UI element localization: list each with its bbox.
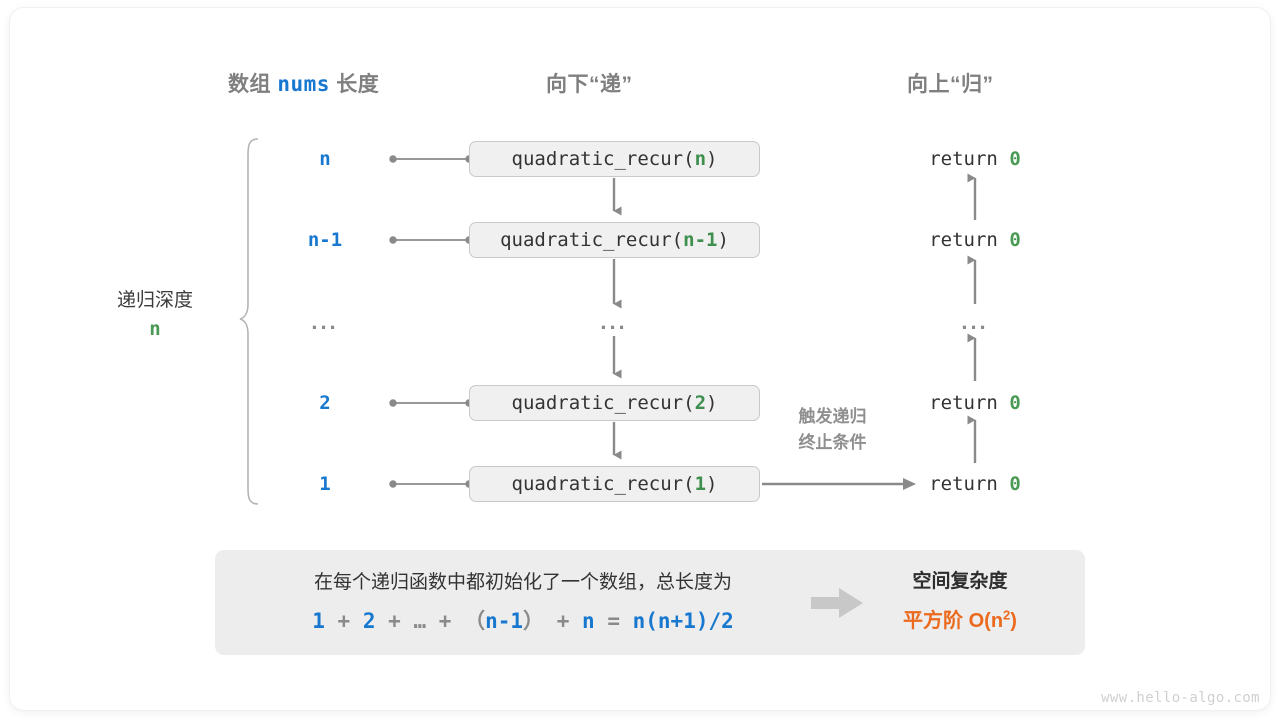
- summary-panel: 在每个递归函数中都初始化了一个数组，总长度为 1 + 2 + … + （n-1）…: [215, 550, 1085, 655]
- header-left-suffix: 长度: [336, 73, 379, 96]
- complexity-summary: 空间复杂度 平方阶 O(n2): [855, 566, 1065, 633]
- call-box-row1[interactable]: quadratic_recur(n): [469, 141, 760, 177]
- call-box-row5[interactable]: quadratic_recur(1): [469, 466, 760, 502]
- call-box-row2-prefix: quadratic_recur(: [500, 229, 683, 251]
- recursion-depth-label: 递归深度 n: [90, 286, 220, 345]
- watermark: www.hello-algo.com: [1101, 690, 1260, 706]
- formula-term-b: 2: [363, 609, 376, 633]
- connector-dot-left-row5: [390, 481, 396, 487]
- formula-equals: =: [607, 609, 620, 633]
- return-row1-label: return: [929, 148, 998, 170]
- depth-brace: [240, 139, 258, 504]
- header-left-prefix: 数组: [228, 73, 271, 96]
- return-row5-label: return: [929, 473, 998, 495]
- formula-ellipsis: …: [413, 609, 426, 633]
- call-box-row3-ellipsis: ...: [564, 311, 664, 333]
- return-row4-value: 0: [1009, 392, 1020, 414]
- formula-op2: +: [388, 609, 401, 633]
- return-row2: return 0: [890, 229, 1060, 251]
- call-box-row2[interactable]: quadratic_recur(n-1): [469, 222, 760, 258]
- complexity-value-tail: ): [1010, 610, 1017, 632]
- return-row3-ellipsis: ...: [925, 311, 1025, 333]
- return-row1: return 0: [890, 148, 1060, 170]
- complexity-value-prefix: 平方阶: [903, 610, 963, 632]
- complexity-title: 空间复杂度: [855, 566, 1065, 593]
- diagram-stage: 数组 nums 长度 向下“递” 向上“归” 递归深度 n n n-1 ... …: [10, 8, 1270, 710]
- termination-note: 触发递归 终止条件: [765, 404, 900, 457]
- call-box-row5-arg: 1: [695, 473, 706, 495]
- call-box-row4-prefix: quadratic_recur(: [512, 392, 695, 414]
- formula-result: n(n+1)/2: [633, 609, 734, 633]
- depth-value-row4: 2: [275, 392, 375, 414]
- recursion-depth-title: 递归深度: [90, 286, 220, 315]
- call-box-row4-suffix: ): [706, 392, 717, 414]
- termination-note-line1: 触发递归: [765, 404, 900, 430]
- call-box-row1-arg: n: [695, 148, 706, 170]
- summary-formula: 1 + 2 + … + （n-1） + n = n(n+1)/2: [243, 605, 803, 635]
- formula-paren-close: ）: [523, 609, 544, 633]
- return-row1-value: 0: [1009, 148, 1020, 170]
- call-box-row1-prefix: quadratic_recur(: [512, 148, 695, 170]
- header-left-column: 数组 nums 长度: [228, 68, 379, 98]
- header-left-code: nums: [277, 72, 330, 96]
- return-row2-value: 0: [1009, 229, 1020, 251]
- call-box-row5-suffix: ): [706, 473, 717, 495]
- depth-value-row3-ellipsis: ...: [275, 311, 375, 333]
- call-box-row5-prefix: quadratic_recur(: [512, 473, 695, 495]
- return-row4-label: return: [929, 392, 998, 414]
- formula-paren-open: （: [464, 609, 485, 633]
- return-row5-value: 0: [1009, 473, 1020, 495]
- connector-dot-left-row4: [390, 400, 396, 406]
- formula-op1: +: [338, 609, 351, 633]
- header-right-column: 向上“归”: [907, 68, 994, 98]
- formula-op4: +: [557, 609, 570, 633]
- depth-value-row1: n: [275, 148, 375, 170]
- summary-text: 在每个递归函数中都初始化了一个数组，总长度为: [243, 567, 803, 594]
- termination-note-line2: 终止条件: [765, 430, 900, 456]
- formula-term-d: n: [582, 609, 595, 633]
- connector-dot-left-row2: [390, 237, 396, 243]
- depth-value-row5: 1: [275, 473, 375, 495]
- return-row4: return 0: [890, 392, 1060, 414]
- diagram-card: 数组 nums 长度 向下“递” 向上“归” 递归深度 n n n-1 ... …: [10, 8, 1270, 710]
- complexity-value-big: O(n: [969, 610, 1003, 632]
- call-box-row4[interactable]: quadratic_recur(2): [469, 385, 760, 421]
- call-box-row2-arg: n-1: [683, 229, 717, 251]
- return-row5: return 0: [890, 473, 1060, 495]
- recursion-depth-value: n: [90, 315, 220, 344]
- formula-term-a: 1: [312, 609, 325, 633]
- call-box-row1-suffix: ): [706, 148, 717, 170]
- call-box-row4-arg: 2: [695, 392, 706, 414]
- return-row2-label: return: [929, 229, 998, 251]
- formula-op3: +: [439, 609, 452, 633]
- connector-dot-left-row1: [390, 156, 396, 162]
- header-middle-column: 向下“递”: [546, 68, 633, 98]
- complexity-value: 平方阶 O(n2): [855, 604, 1065, 633]
- depth-value-row2: n-1: [275, 229, 375, 251]
- formula-term-c: n-1: [485, 609, 523, 633]
- call-box-row2-suffix: ): [717, 229, 728, 251]
